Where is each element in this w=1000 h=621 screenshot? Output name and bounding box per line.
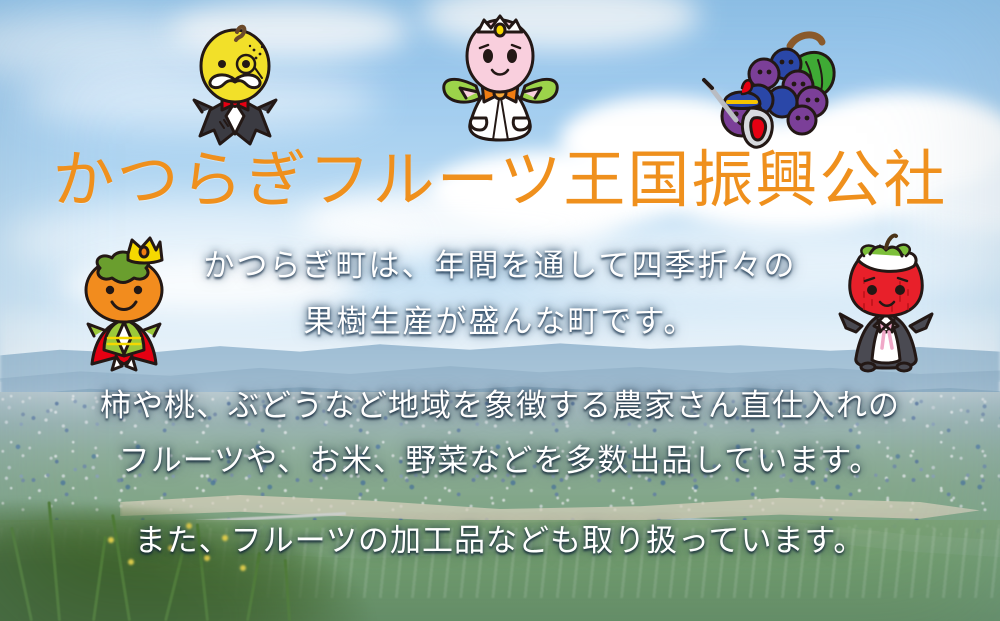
pear-mascot [180, 24, 290, 149]
promo-banner: かつらぎフルーツ王国振興公社 かつらぎ町は、年間を通して四季折々の 果樹生産が盛… [0, 0, 1000, 621]
body-line-2: フルーツや、お米、野菜などを多数出品しています。 [0, 445, 1000, 476]
body-line-3: また、フルーツの加工品なども取り扱っています。 [0, 525, 1000, 556]
subtitle-line-1: かつらぎ町は、年間を通して四季折々の [0, 250, 1000, 281]
peach-mascot [438, 14, 563, 149]
page-title: かつらぎフルーツ王国振興公社 [0, 150, 1000, 212]
body-line-1: 柿や桃、ぶどうなど地域を象徴する農家さん直仕入れの [0, 390, 1000, 421]
grape-mascot [694, 24, 840, 152]
subtitle-line-2: 果樹生産が盛んな町です。 [0, 306, 1000, 337]
